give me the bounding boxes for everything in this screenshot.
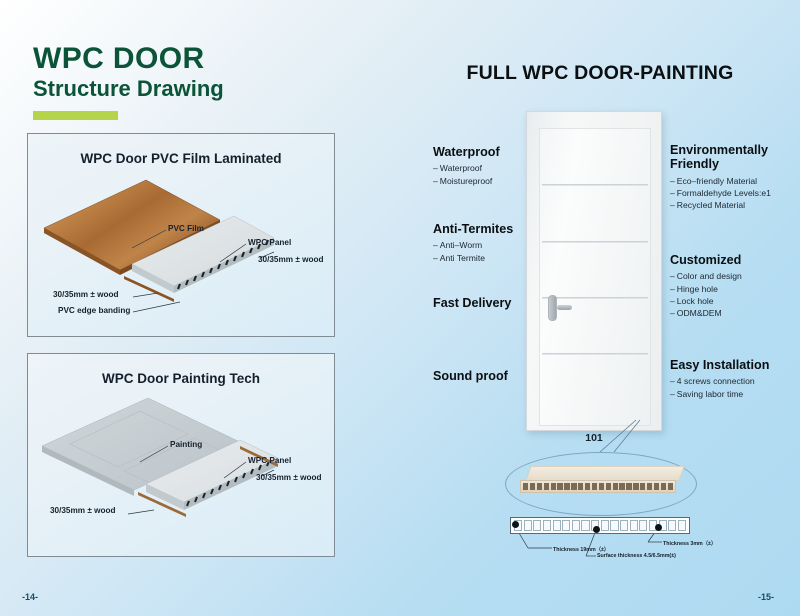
feature-items: 4 screws connection Saving labor time <box>670 375 800 399</box>
diagram-panel-laminated: WPC Door PVC Film Laminated <box>27 133 335 337</box>
feature-item: Lock hole <box>670 295 800 307</box>
label-wpc-panel: WPC Panel <box>248 238 291 247</box>
section-cell <box>581 520 589 531</box>
feature-heading: Environmentally Friendly <box>670 143 800 172</box>
feature-easy-installation: Easy Installation 4 screws connection Sa… <box>670 358 800 400</box>
label-pvc-film: PVC Film <box>168 224 204 233</box>
label-wood-thickness-right: 30/35mm ± wood <box>256 473 321 482</box>
core-cell <box>530 483 535 490</box>
feature-heading: Easy Installation <box>670 358 800 372</box>
core-cell <box>619 483 624 490</box>
core-cell <box>592 483 597 490</box>
door-frame <box>526 111 662 431</box>
door-illustration <box>526 111 662 431</box>
section-cell <box>620 520 628 531</box>
feature-item: ODM&DEM <box>670 307 800 319</box>
label-wood-thickness-left: 30/35mm ± wood <box>53 290 118 299</box>
label-pvc-edge-banding: PVC edge banding <box>58 306 130 315</box>
feature-environmentally-friendly: Environmentally Friendly Eco–friendly Ma… <box>670 143 800 212</box>
section-cell <box>610 520 618 531</box>
right-page-title: FULL WPC DOOR-PAINTING <box>400 62 800 85</box>
page-title: WPC DOOR <box>33 44 363 75</box>
core-cell <box>585 483 590 490</box>
panel-top-surface <box>525 466 684 481</box>
section-cell <box>668 520 676 531</box>
core-cell <box>661 483 666 490</box>
page-subtitle: Structure Drawing <box>33 77 363 101</box>
measure-point-surface <box>593 526 600 533</box>
feature-item: Hinge hole <box>670 283 800 295</box>
core-cell <box>640 483 645 490</box>
core-cell <box>523 483 528 490</box>
core-cell <box>606 483 611 490</box>
door-groove <box>542 241 648 243</box>
core-cell <box>571 483 576 490</box>
core-cell <box>654 483 659 490</box>
section-cell <box>630 520 638 531</box>
feature-item: Recycled Material <box>670 199 800 211</box>
title-accent-rule <box>33 111 118 120</box>
measure-point-thickness <box>512 521 519 528</box>
left-page: WPC DOOR Structure Drawing WPC Door PVC … <box>0 0 400 616</box>
section-cell <box>639 520 647 531</box>
diagram-panel-painting: WPC Door Painting Tech <box>27 353 335 557</box>
feature-items: Color and design Hinge hole Lock hole OD… <box>670 270 800 319</box>
page-number-left: -14- <box>22 592 38 602</box>
core-cell <box>647 483 652 490</box>
section-cell <box>524 520 532 531</box>
section-cell <box>562 520 570 531</box>
title-block: WPC DOOR Structure Drawing <box>33 44 363 120</box>
painted-board-illustration <box>28 386 336 546</box>
right-page: FULL WPC DOOR-PAINTING Waterproof Waterp… <box>400 0 800 616</box>
feature-item: Color and design <box>670 270 800 282</box>
core-cell <box>564 483 569 490</box>
core-cell <box>551 483 556 490</box>
feature-customized: Customized Color and design Hinge hole L… <box>670 253 800 319</box>
core-cell <box>544 483 549 490</box>
core-cell <box>626 483 631 490</box>
feature-item: 4 screws connection <box>670 375 800 387</box>
panel-artwork-painting: Painting WPC Panel 30/35mm ± wood 30/35m… <box>28 386 334 546</box>
section-cell <box>543 520 551 531</box>
core-cell <box>599 483 604 490</box>
core-cell <box>537 483 542 490</box>
feature-item: Formaldehyde Levels:e1 <box>670 187 800 199</box>
section-cell <box>601 520 609 531</box>
core-cell <box>578 483 583 490</box>
label-surface-thickness: Surface thickness 4.5/6.5mm(±) <box>597 553 676 559</box>
feature-item: Eco–friendly Material <box>670 175 800 187</box>
catalog-spread: WPC DOOR Structure Drawing WPC Door PVC … <box>0 0 800 616</box>
hollow-core-panel-3d <box>520 466 682 496</box>
door-handle-icon <box>548 295 557 321</box>
feature-items: Eco–friendly Material Formaldehyde Level… <box>670 175 800 212</box>
label-thickness-19mm: Thickness 19mm（±） <box>553 545 609 553</box>
section-cell <box>533 520 541 531</box>
panel-title: WPC Door Painting Tech <box>28 371 334 386</box>
section-cell <box>553 520 561 531</box>
core-cell <box>668 483 673 490</box>
label-painting: Painting <box>170 440 202 449</box>
label-thickness-3mm: Thickness 3mm（±） <box>663 539 716 547</box>
section-cell <box>678 520 686 531</box>
feature-heading: Customized <box>670 253 800 267</box>
page-number-right: -15- <box>758 592 774 602</box>
core-cell <box>557 483 562 490</box>
section-cell <box>572 520 580 531</box>
core-cell <box>613 483 618 490</box>
feature-item: Saving labor time <box>670 388 800 400</box>
door-model-number: 101 <box>526 432 662 444</box>
door-groove <box>542 297 648 299</box>
panel-title: WPC Door PVC Film Laminated <box>28 151 334 166</box>
door-groove <box>542 353 648 355</box>
core-cell <box>633 483 638 490</box>
label-wood-thickness-right: 30/35mm ± wood <box>258 255 323 264</box>
panel-cross-section-schematic <box>510 517 690 534</box>
label-wood-thickness-left: 30/35mm ± wood <box>50 506 115 515</box>
label-wpc-panel: WPC Panel <box>248 456 291 465</box>
panel-artwork-laminated: PVC Film WPC Panel 30/35mm ± wood 30/35m… <box>28 166 334 326</box>
panel-hollow-face <box>520 480 676 493</box>
door-groove <box>542 184 648 186</box>
door-leaf <box>539 128 651 426</box>
measure-point-inner <box>655 524 662 531</box>
